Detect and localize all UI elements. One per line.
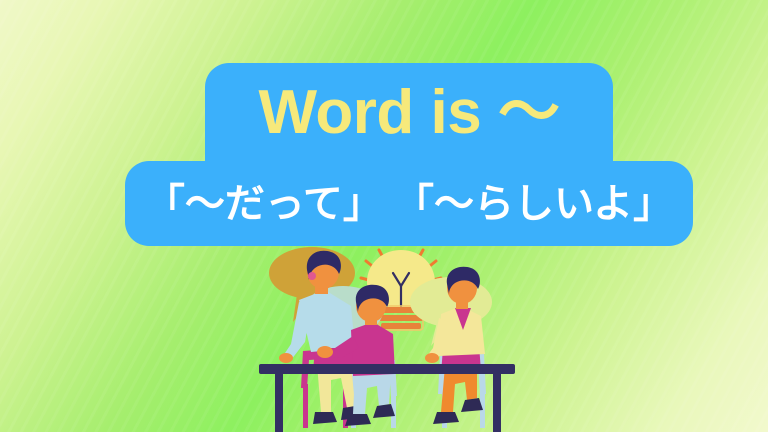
page-subtitle: 「〜だって」 「〜らしいよ」 [125, 164, 693, 244]
conversation-illustration [255, 236, 520, 432]
slide-canvas: Word is 〜 「〜だって」 「〜らしいよ」 [0, 0, 768, 432]
page-title: Word is 〜 [205, 63, 613, 167]
